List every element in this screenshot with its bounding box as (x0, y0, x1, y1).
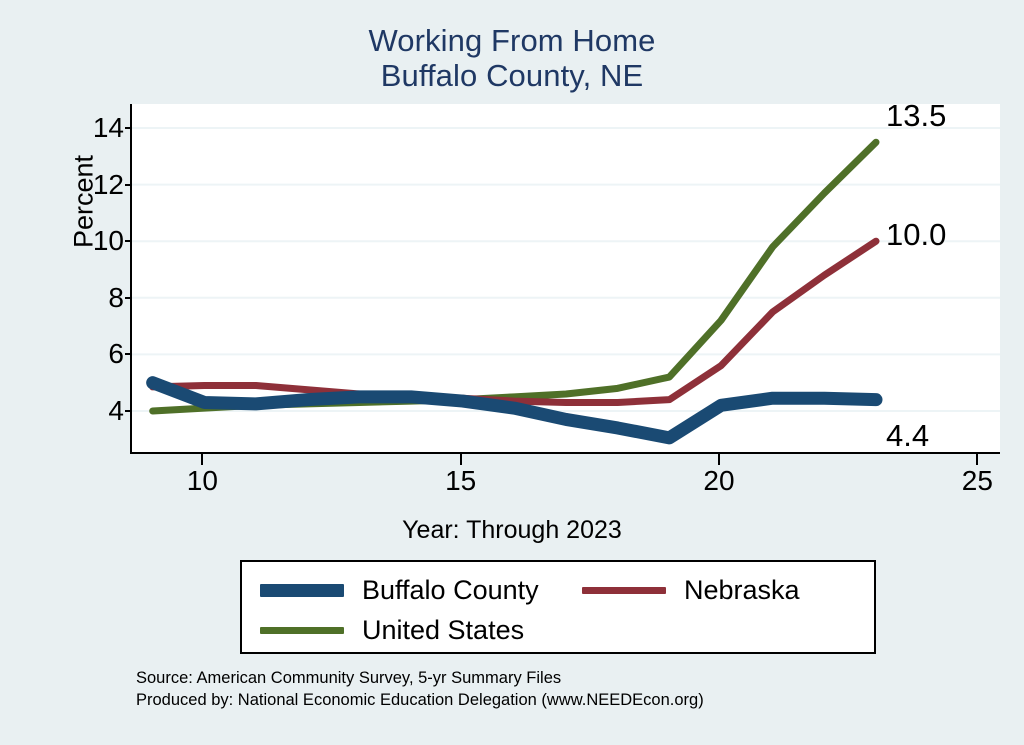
legend-label: Buffalo County (362, 577, 539, 604)
legend-label: Nebraska (684, 577, 800, 604)
chart-legend: Buffalo CountyNebraskaUnited States (240, 560, 876, 654)
y-tick-label: 6 (80, 340, 124, 368)
legend-item-united-states[interactable]: United States (260, 612, 524, 648)
legend-swatch-icon (260, 584, 344, 597)
plot-lines (132, 104, 1000, 452)
endpoint-label-nebraska: 10.0 (886, 219, 946, 250)
legend-label: United States (362, 617, 524, 644)
series-line-united-states (153, 142, 876, 411)
series-line-nebraska (153, 241, 876, 402)
endpoint-label-united-states: 13.5 (886, 100, 946, 131)
x-tick-label: 20 (679, 467, 759, 495)
x-axis-ticks: 10152025 (130, 454, 998, 504)
x-tick-mark (718, 454, 720, 465)
legend-swatch-icon (260, 627, 344, 634)
x-tick-mark (460, 454, 462, 465)
footer-note: Source: American Community Survey, 5-yr … (136, 668, 704, 712)
x-tick-label: 25 (937, 467, 1017, 495)
chart-figure: Working From Home Buffalo County, NE Per… (0, 0, 1024, 745)
endpoint-label-buffalo-county: 4.4 (886, 420, 929, 451)
y-tick-label: 12 (80, 171, 124, 199)
footer-source-line: Source: American Community Survey, 5-yr … (136, 668, 704, 690)
plot-area (130, 104, 1000, 454)
legend-swatch-icon (582, 587, 666, 594)
chart-title-line-1: Working From Home (0, 24, 1024, 59)
x-tick-label: 10 (162, 467, 242, 495)
y-axis-ticks: 468101214 (74, 104, 124, 452)
x-axis-title: Year: Through 2023 (0, 516, 1024, 545)
y-tick-label: 10 (80, 227, 124, 255)
y-tick-label: 4 (80, 397, 124, 425)
x-tick-mark (976, 454, 978, 465)
x-tick-label: 15 (421, 467, 501, 495)
chart-title: Working From Home Buffalo County, NE (0, 24, 1024, 93)
y-tick-label: 14 (80, 114, 124, 142)
legend-item-nebraska[interactable]: Nebraska (582, 572, 800, 608)
legend-item-buffalo-county[interactable]: Buffalo County (260, 572, 539, 608)
footer-producer-line: Produced by: National Economic Education… (136, 690, 704, 712)
chart-title-line-2: Buffalo County, NE (0, 59, 1024, 94)
x-tick-mark (201, 454, 203, 465)
y-tick-label: 8 (80, 284, 124, 312)
